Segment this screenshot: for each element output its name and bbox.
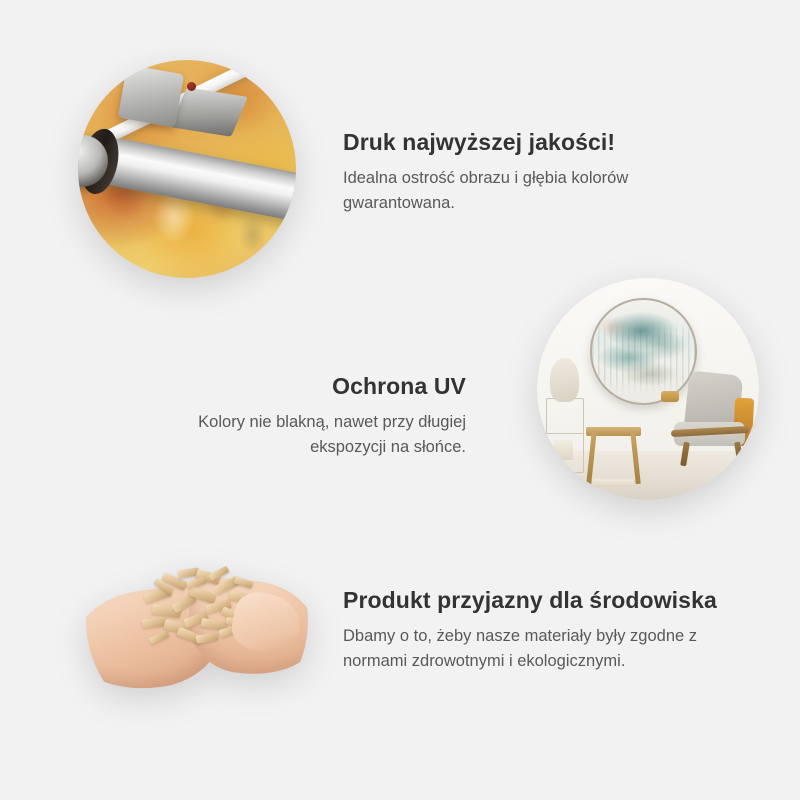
side-table-leg-left (586, 431, 597, 484)
feature-uv-protection-image (537, 278, 759, 500)
print-roller-photo (78, 60, 296, 278)
wooden-side-table (586, 427, 642, 485)
candle-decor (553, 440, 573, 460)
roller-carriage-block (117, 64, 183, 127)
feature-eco-friendly-heading: Produkt przyjazny dla środowiska (343, 586, 743, 615)
feature-eco-friendly-body: Dbamy o to, żeby nasze materiały były zg… (343, 624, 743, 674)
stacked-books (592, 479, 633, 487)
feature-uv-protection-copy: Ochrona UV Kolory nie blakną, nawet przy… (136, 372, 466, 460)
feature-highlights-board: Druk najwyższej jakości! Idealna ostrość… (0, 0, 800, 800)
feature-print-quality-copy: Druk najwyższej jakości! Idealna ostrość… (343, 128, 703, 216)
side-table-leg-right (630, 431, 641, 484)
wire-shelf-unit (546, 398, 584, 473)
feature-uv-protection-heading: Ochrona UV (136, 372, 466, 401)
wood-chip (233, 577, 253, 590)
wood-chip (196, 632, 219, 644)
feature-print-quality-heading: Druk najwyższej jakości! (343, 128, 703, 157)
feature-eco-friendly-image (86, 510, 308, 732)
feature-print-quality-image (78, 60, 296, 278)
roller-indicator-dot (187, 82, 196, 91)
interior-room-photo (537, 278, 759, 500)
feature-uv-protection-body: Kolory nie blakną, nawet przy długiej ek… (136, 410, 466, 460)
armchair (661, 373, 754, 466)
feature-eco-friendly-copy: Produkt przyjazny dla środowiska Dbamy o… (343, 586, 743, 674)
shelf-middle-rail (547, 433, 583, 434)
feature-print-quality-body: Idealna ostrość obrazu i głębia kolorów … (343, 166, 703, 216)
decorative-bust (550, 358, 579, 402)
wood-chip (149, 631, 170, 646)
wood-chips-photo (86, 510, 308, 732)
